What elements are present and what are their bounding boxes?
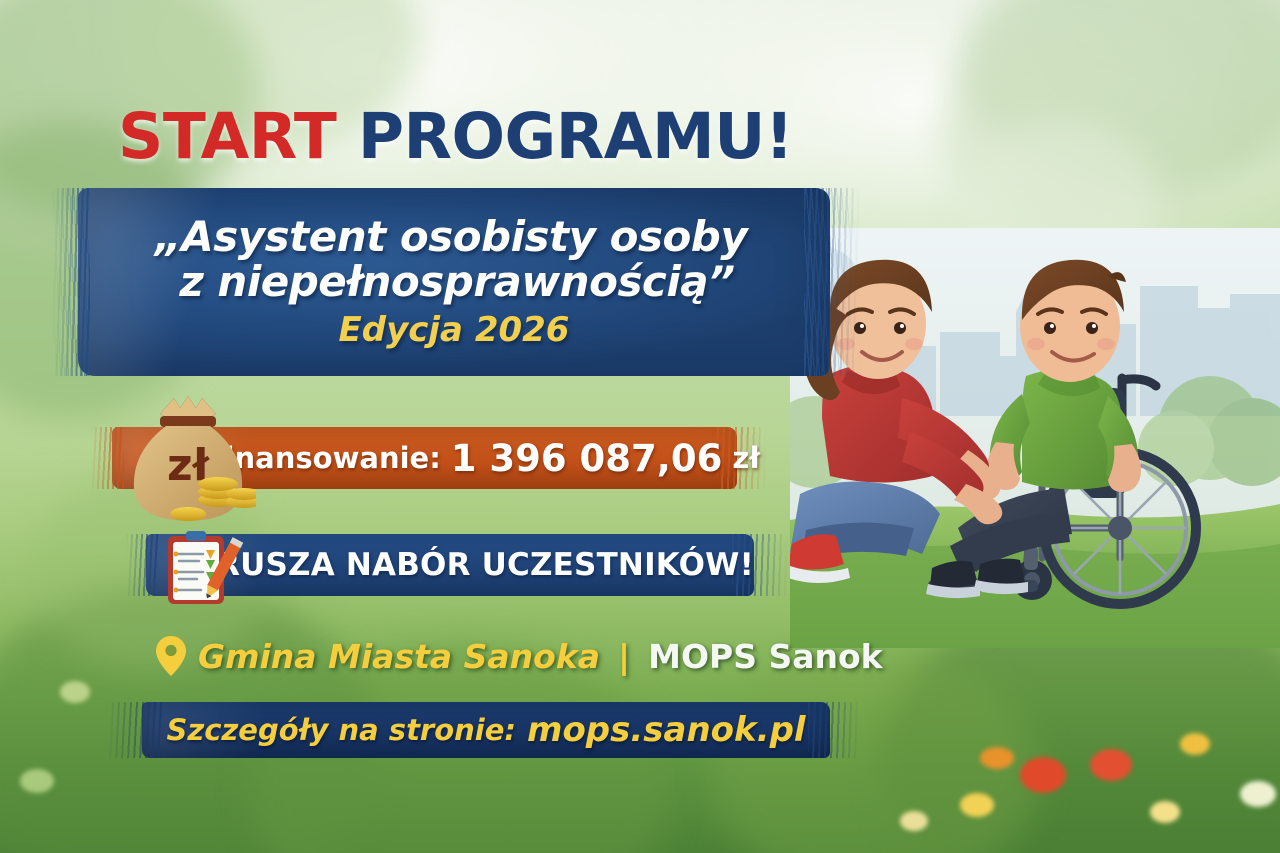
- program-title-line-1: „Asystent osobisty osoby: [98, 214, 804, 259]
- funding-amount: 1 396 087,06: [451, 437, 723, 480]
- meadow-flower: [1090, 749, 1132, 781]
- location-row: Gmina Miasta Sanoka | MOPS Sanok: [156, 636, 883, 676]
- location-separator: |: [618, 637, 630, 676]
- meadow-flower: [1180, 733, 1210, 755]
- assistant-and-wheelchair-user-illustration: [790, 228, 1280, 648]
- meadow-flower: [980, 747, 1014, 769]
- clipboard-checklist-icon: [160, 528, 252, 608]
- program-title-line-2: z niepełnosprawnością”: [110, 259, 804, 304]
- money-bag-icon: zł: [126, 392, 256, 527]
- website-url[interactable]: mops.sanok.pl: [527, 710, 806, 750]
- recruitment-text: RUSZA NABÓR UCZESTNIKÓW!: [216, 547, 754, 583]
- meadow-flower: [960, 793, 994, 817]
- poster-canvas: START PROGRAMU! „Asystent osobisty osoby…: [0, 0, 1280, 853]
- program-title-banner: „Asystent osobisty osoby z niepełnospraw…: [78, 188, 830, 376]
- meadow-flower: [20, 769, 54, 793]
- meadow-flower: [60, 681, 90, 703]
- meadow-flower: [1150, 801, 1180, 823]
- meadow-flower: [900, 811, 928, 831]
- map-pin-icon: [156, 636, 186, 676]
- funding-currency: zł: [732, 441, 760, 475]
- page-title: START PROGRAMU!: [118, 100, 793, 173]
- website-banner: Szczegóły na stronie: mops.sanok.pl: [142, 702, 830, 758]
- location-city: Gmina Miasta Sanoka: [198, 637, 600, 676]
- location-organization: MOPS Sanok: [648, 637, 882, 676]
- meadow-flower: [1020, 757, 1066, 793]
- program-edition-label: Edycja 2026: [104, 310, 804, 350]
- website-label: Szczegóły na stronie:: [166, 713, 516, 747]
- headline-word-start: START: [118, 100, 336, 173]
- headline-word-programu: PROGRAMU!: [358, 100, 793, 173]
- meadow-flower: [1240, 781, 1276, 807]
